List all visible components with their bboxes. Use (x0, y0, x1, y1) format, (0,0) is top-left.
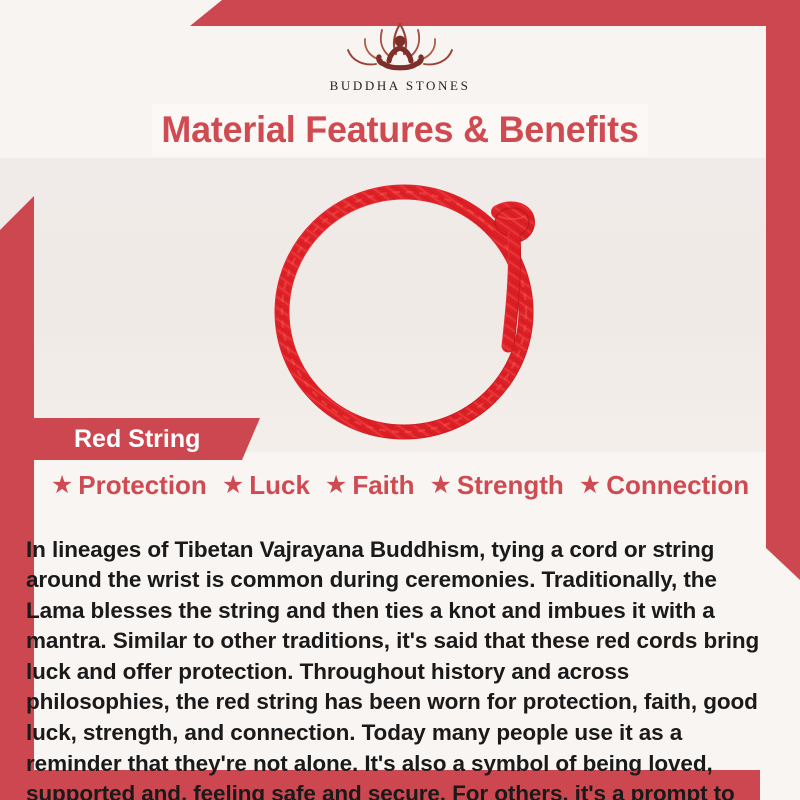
infographic-page: BUDDHA STONES Material Features & Benefi… (0, 0, 800, 800)
benefits-list: ★ Protection ★ Luck ★ Faith ★ Strength ★… (0, 466, 800, 504)
star-icon: ★ (579, 473, 601, 498)
benefit-label: Faith (352, 470, 414, 501)
benefit-label: Protection (78, 470, 207, 501)
star-icon: ★ (51, 473, 73, 498)
cord-tail (508, 236, 515, 346)
star-icon: ★ (325, 473, 347, 498)
benefit-label: Strength (457, 470, 564, 501)
benefit-label: Luck (249, 470, 310, 501)
star-icon: ★ (429, 473, 451, 498)
product-image-red-string-bracelet (262, 160, 562, 456)
benefit-item-luck: ★ Luck (222, 470, 310, 501)
benefit-item-strength: ★ Strength (429, 470, 563, 501)
benefit-item-connection: ★ Connection (579, 470, 749, 501)
page-title: Material Features & Benefits (161, 109, 638, 151)
brand-logo: BUDDHA STONES (0, 14, 800, 94)
lotus-meditation-icon (316, 14, 484, 76)
star-icon: ★ (222, 473, 244, 498)
benefit-label: Connection (606, 470, 749, 501)
product-name-label: Red String (74, 425, 200, 454)
description-paragraph: In lineages of Tibetan Vajrayana Buddhis… (26, 535, 778, 800)
brand-name: BUDDHA STONES (0, 78, 800, 94)
product-name-ribbon: Red String (18, 418, 260, 460)
cord-loop-braid-texture (282, 192, 526, 432)
page-title-banner: Material Features & Benefits (152, 104, 648, 156)
benefit-item-faith: ★ Faith (325, 470, 415, 501)
benefit-item-protection: ★ Protection (51, 470, 207, 501)
